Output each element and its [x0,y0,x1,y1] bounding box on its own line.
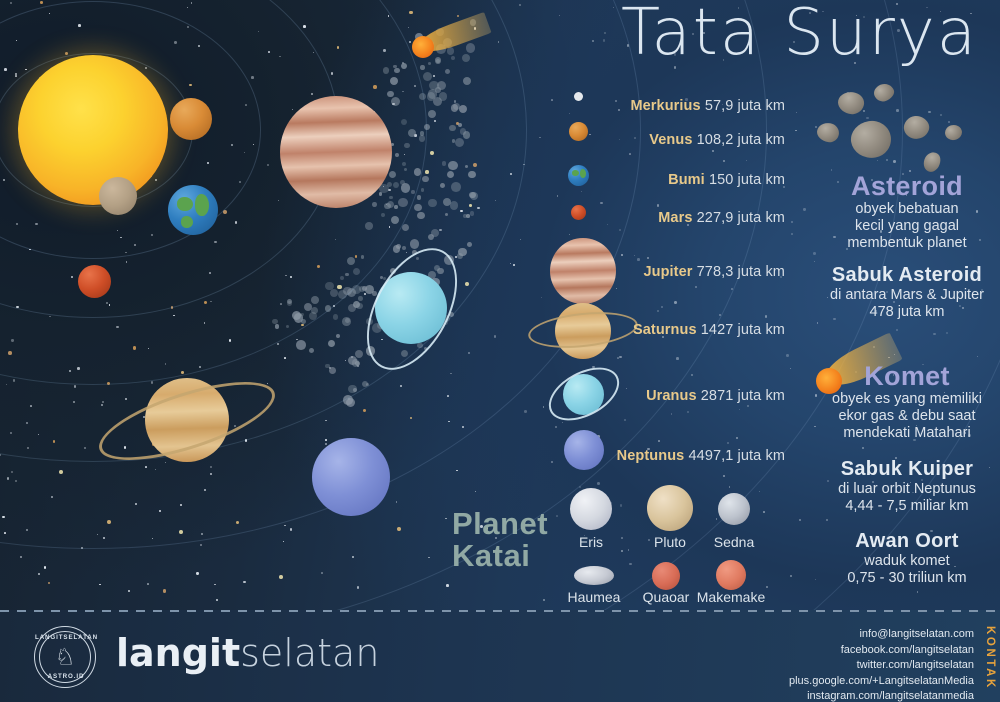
dwarf-label-makemake: Makemake [691,589,771,605]
scale-jupiter [550,238,616,304]
info-line: obyek es yang memiliki [814,391,1000,408]
info-line: obyek bebatuan [814,201,1000,218]
info-block-asteroid: Asteroid obyek bebatuan kecil yang gagal… [814,172,1000,252]
planet-distance: 4497,1 juta km [688,448,785,464]
info-line: kecil yang gagal [814,218,1000,235]
langitselatan-wordmark[interactable]: langitselatan [116,634,379,672]
dwarf-planets-heading: Planet Katai [452,508,548,572]
planet-distance: 150 juta km [709,172,785,188]
planet-row-merkurius: Merkurius 57,9 juta km [630,98,785,114]
scale-merkurius [574,92,583,101]
dwarf-label-haumea: Haumea [554,589,634,605]
info-line: 4,44 - 7,5 miliar km [814,498,1000,515]
info-line: 478 juta km [814,304,1000,321]
planet-name: Mars [658,210,692,226]
planet-row-venus: Venus 108,2 juta km [649,132,785,148]
planet-row-mars: Mars 227,9 juta km [658,210,785,226]
wordmark-bold: langit [116,631,240,675]
dwarf-sedna-body [718,493,750,525]
wordmark-light: selatan [240,631,379,675]
info-line: membentuk planet [814,235,1000,252]
info-line: ekor gas & debu saat [814,408,1000,425]
earth-continent [572,170,579,176]
dwarf-label-eris: Eris [551,534,631,550]
contact-link-googleplus[interactable]: plus.google.com/+LangitselatanMedia [789,674,974,690]
contact-link-facebook[interactable]: facebook.com/langitselatan [789,643,974,659]
footer-bar: LANGITSELATAN ♘ ASTRO.ID langitselatan i… [0,610,1000,702]
seal-top-text: LANGITSELATAN [35,634,97,641]
dwarf-haumea-body [574,566,614,585]
contact-link-twitter[interactable]: twitter.com/langitselatan [789,658,974,674]
planet-distance: 57,9 juta km [705,98,785,114]
planet-distance: 1427 juta km [701,322,785,338]
planet-name: Saturnus [633,322,697,338]
planet-name: Merkurius [630,98,700,114]
dwarf-makemake-body [716,560,746,590]
scale-bumi [568,165,589,186]
info-heading: Komet [814,362,1000,391]
info-line: di antara Mars & Jupiter [814,287,1000,304]
info-line: waduk komet [814,553,1000,570]
info-heading: Awan Oort [814,531,1000,553]
planet-row-bumi: Bumi 150 juta km [668,172,785,188]
info-heading: Sabuk Asteroid [814,265,1000,287]
saturn-scale-ring [527,307,640,352]
planet-name: Bumi [668,172,705,188]
footer-divider [0,610,1000,612]
dwarf-pluto-body [647,485,693,531]
dwarf-label-sedna: Sedna [694,534,774,550]
planet-distance: 227,9 juta km [697,210,785,226]
info-block-sabuk-asteroid: Sabuk Asteroid di antara Mars & Jupiter … [814,265,1000,321]
dwarf-heading-line1: Planet [452,508,548,540]
langitselatan-seal-logo: LANGITSELATAN ♘ ASTRO.ID [34,626,96,688]
kontak-label: KONTAK [984,626,996,690]
info-block-sabuk-kuiper: Sabuk Kuiper di luar orbit Neptunus 4,44… [814,459,1000,515]
contact-link-email[interactable]: info@langitselatan.com [789,627,974,643]
uranus-scale-ring [540,357,628,432]
info-line: mendekati Matahari [814,425,1000,442]
planet-row-jupiter: Jupiter 778,3 juta km [643,264,785,280]
planet-name: Jupiter [643,264,692,280]
planet-distance: 2871 juta km [701,388,785,404]
info-line: 0,75 - 30 triliun km [814,570,1000,587]
planet-distance: 108,2 juta km [697,132,785,148]
info-heading: Asteroid [814,172,1000,201]
planet-row-uranus: Uranus 2871 juta km [646,388,785,404]
planet-name: Neptunus [617,448,685,464]
seal-centaur-icon: ♘ [55,646,76,669]
contact-link-instagram[interactable]: instagram.com/langitselatanmedia [789,689,974,702]
infographic-poster: Tata Surya Merkurius 57,9 juta km Venus … [0,0,1000,702]
earth-continent [580,169,586,178]
dwarf-heading-line2: Katai [452,540,548,572]
info-heading: Sabuk Kuiper [814,459,1000,481]
scale-mars [571,205,586,220]
planet-row-saturnus: Saturnus 1427 juta km [633,322,785,338]
seal-bottom-text: ASTRO.ID [35,673,97,680]
planet-name: Venus [649,132,692,148]
contact-links: info@langitselatan.com facebook.com/lang… [789,627,974,702]
planet-distance: 778,3 juta km [697,264,785,280]
scale-neptunus [564,430,604,470]
scale-venus [569,122,588,141]
info-block-komet: Komet obyek es yang memiliki ekor gas & … [814,362,1000,442]
planet-name: Uranus [646,388,697,404]
info-line: di luar orbit Neptunus [814,481,1000,498]
planet-row-neptunus: Neptunus 4497,1 juta km [617,448,785,464]
dwarf-quaoar-body [652,562,680,590]
dwarf-eris-body [570,488,612,530]
info-block-awan-oort: Awan Oort waduk komet 0,75 - 30 triliun … [814,531,1000,587]
